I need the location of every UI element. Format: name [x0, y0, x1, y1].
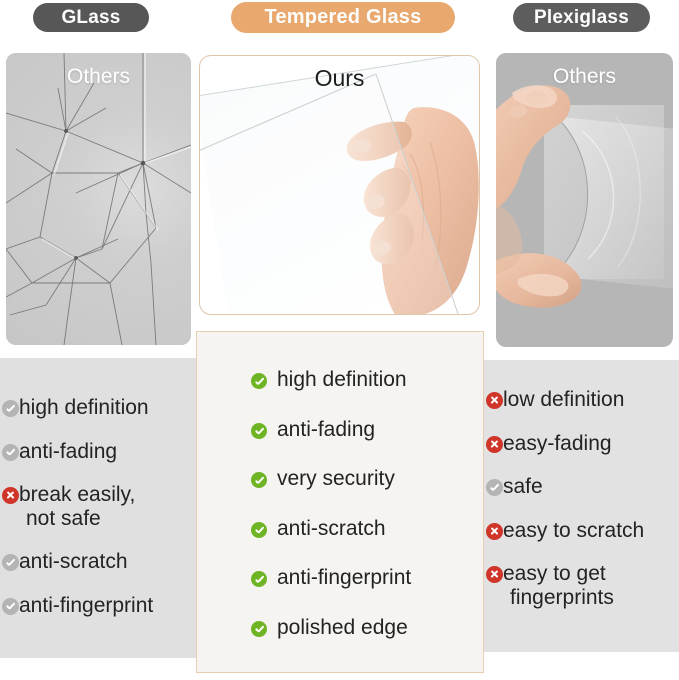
list-item-label-line2: not safe [19, 507, 135, 531]
column-header-tempered-glass: Tempered Glass [231, 2, 455, 33]
list-item: anti-fading [2, 440, 196, 464]
list-item-label-line2: fingerprints [503, 586, 614, 610]
list-item: anti-fading [251, 418, 483, 442]
list-item-label: anti-fingerprint [19, 594, 153, 618]
list-item-label: break easily, not safe [19, 483, 135, 530]
glass-edge-line-icon [200, 56, 479, 314]
column-header-tempered-glass-label: Tempered Glass [265, 6, 422, 29]
cross-red-icon [486, 392, 503, 409]
hands-bending-plastic-image [496, 53, 673, 347]
list-item: easy to get fingerprints [486, 562, 679, 609]
check-green-icon [251, 472, 267, 488]
check-green-icon [251, 423, 267, 439]
check-gray-icon [2, 598, 19, 615]
feature-list-plexiglass-items: low definition easy-fading safe easy to … [483, 360, 679, 609]
list-item-label: anti-fading [19, 440, 117, 464]
cross-red-icon [486, 436, 503, 453]
feature-list-tempered-glass: high definition anti-fading very securit… [196, 331, 484, 673]
hand-holding-glass-image [200, 56, 479, 314]
column-header-plexiglass: Plexiglass [513, 3, 650, 32]
list-item-label-line1: easy to get [503, 562, 606, 585]
list-item-label: polished edge [277, 616, 408, 640]
list-item: easy to scratch [486, 519, 679, 543]
list-item: break easily, not safe [2, 483, 196, 530]
list-item-label: easy-fading [503, 432, 612, 456]
image-panel-glass-label: Others [6, 65, 191, 89]
list-item-label: easy to scratch [503, 519, 644, 543]
list-item: very security [251, 467, 483, 491]
list-item-label: anti-scratch [19, 550, 128, 574]
image-panel-tempered-glass: Ours [199, 55, 480, 315]
list-item: high definition [2, 396, 196, 420]
list-item-label: easy to get fingerprints [503, 562, 614, 609]
list-item-label: low definition [503, 388, 624, 412]
check-gray-icon [2, 554, 19, 571]
check-gray-icon [2, 400, 19, 417]
list-item-label: high definition [19, 396, 149, 420]
list-item: anti-fingerprint [2, 594, 196, 618]
list-item-label: very security [277, 467, 395, 491]
list-item-label-line1: break easily, [19, 483, 135, 506]
feature-list-tempered-glass-items: high definition anti-fading very securit… [197, 332, 483, 639]
crack-lines-icon [6, 53, 191, 345]
bending-plastic-icon [496, 53, 673, 347]
column-header-plexiglass-label: Plexiglass [534, 7, 629, 29]
feature-list-plexiglass: low definition easy-fading safe easy to … [483, 360, 679, 652]
column-header-glass: GLass [33, 3, 149, 32]
check-gray-icon [486, 479, 503, 496]
list-item: low definition [486, 388, 679, 412]
image-panel-tempered-glass-label: Ours [200, 65, 479, 92]
list-item: anti-fingerprint [251, 566, 483, 590]
cross-red-icon [2, 487, 19, 504]
list-item: polished edge [251, 616, 483, 640]
list-item-label: anti-scratch [277, 517, 386, 541]
cross-red-icon [486, 523, 503, 540]
list-item: anti-scratch [2, 550, 196, 574]
column-header-glass-label: GLass [61, 7, 120, 29]
feature-list-glass-items: high definition anti-fading break easily… [0, 358, 196, 617]
cross-red-icon [486, 566, 503, 583]
check-gray-icon [2, 444, 19, 461]
list-item-label: high definition [277, 368, 407, 392]
comparison-infographic: GLass Tempered Glass Plexiglass [0, 0, 679, 680]
image-panel-plexiglass: Others [496, 53, 673, 347]
list-item-label: anti-fading [277, 418, 375, 442]
check-green-icon [251, 373, 267, 389]
check-green-icon [251, 571, 267, 587]
list-item: high definition [251, 368, 483, 392]
list-item: safe [486, 475, 679, 499]
list-item-label: anti-fingerprint [277, 566, 411, 590]
list-item-label: safe [503, 475, 543, 499]
list-item: anti-scratch [251, 517, 483, 541]
image-panel-glass: Others [6, 53, 191, 345]
image-panel-plexiglass-label: Others [496, 65, 673, 89]
feature-list-glass: high definition anti-fading break easily… [0, 358, 196, 658]
check-green-icon [251, 522, 267, 538]
list-item: easy-fading [486, 432, 679, 456]
check-green-icon [251, 621, 267, 637]
